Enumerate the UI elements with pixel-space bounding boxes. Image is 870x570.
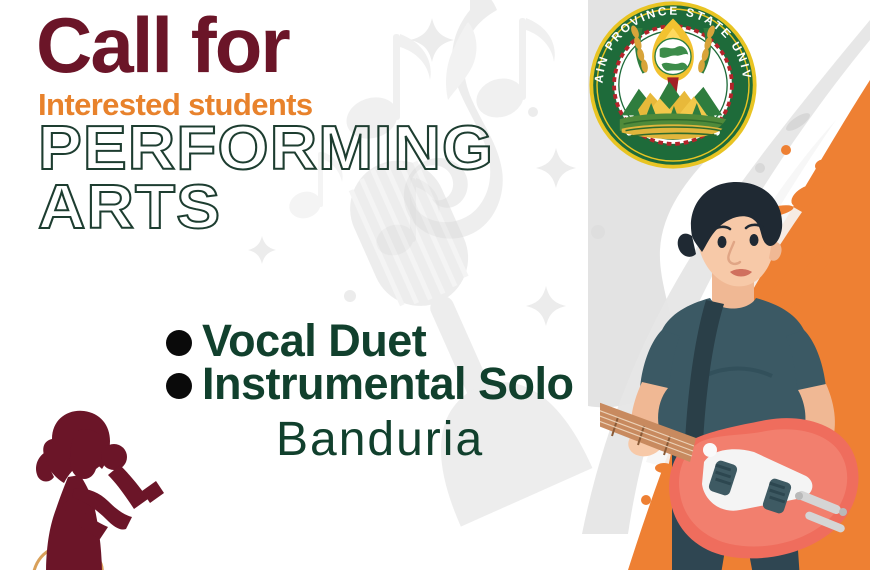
bullet-dot-icon	[166, 373, 192, 399]
list-item: Instrumental Solo	[166, 361, 636, 408]
poster-canvas: Call for Interested students PERFORMING …	[0, 0, 870, 570]
singer-silhouette-illustration	[10, 405, 200, 570]
categories-list: Vocal Duet Instrumental Solo Banduria	[166, 318, 636, 464]
guitarist-head	[678, 182, 782, 286]
singer-figure	[36, 411, 164, 570]
headline-arts: ARTS	[38, 179, 629, 236]
bullet-dot-icon	[166, 330, 192, 356]
headline-performing: PERFORMING	[38, 120, 629, 177]
university-seal: MOUNTAIN PROVINCE STATE UNIVERSITY 1969	[578, 0, 768, 180]
list-sub-item-banduria: Banduria	[276, 416, 636, 464]
list-item-label: Instrumental Solo	[202, 361, 574, 408]
seal-rice-terraces	[620, 114, 726, 140]
guitarist-illustration	[600, 180, 870, 570]
headline-block: Call for Interested students PERFORMING …	[36, 8, 596, 236]
headline-call-for: Call for	[36, 8, 596, 83]
